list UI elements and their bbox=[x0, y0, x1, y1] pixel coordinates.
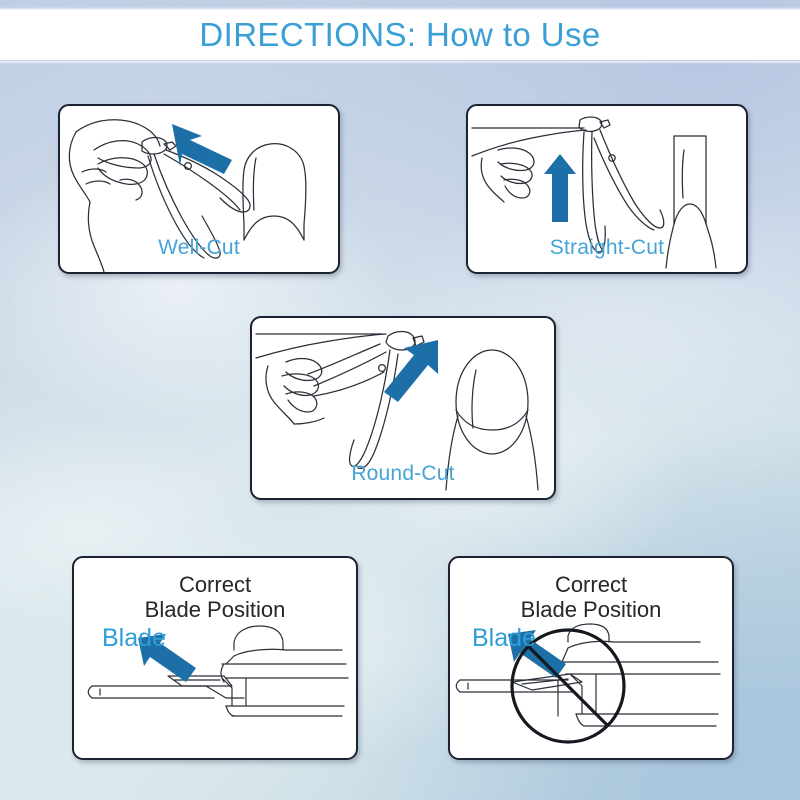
arrow-up-right-icon bbox=[384, 340, 438, 402]
caption-round-cut: Round-Cut bbox=[252, 462, 554, 486]
panel-round-cut: Round-Cut bbox=[250, 316, 556, 500]
panel-straight-cut: Straight-Cut bbox=[466, 104, 748, 274]
panel-well-cut: Well-Cut bbox=[58, 104, 340, 274]
panel-incorrect-blade-position: Correct Blade Position Blade bbox=[448, 556, 734, 760]
caption-well-cut: Well-Cut bbox=[60, 236, 338, 260]
page-title: DIRECTIONS: How to Use bbox=[199, 16, 600, 54]
blade-heading-incorrect: Correct Blade Position bbox=[450, 572, 732, 623]
blade-heading-correct: Correct Blade Position bbox=[74, 572, 356, 623]
arrow-up-icon bbox=[544, 154, 576, 222]
instruction-sheet: DIRECTIONS: How to Use bbox=[0, 0, 800, 800]
blade-heading-line2: Blade Position bbox=[521, 597, 662, 622]
blade-label-correct: Blade bbox=[102, 624, 166, 653]
header-band: DIRECTIONS: How to Use bbox=[0, 10, 800, 60]
panel-correct-blade-position: Correct Blade Position Blade bbox=[72, 556, 358, 760]
blade-heading-line2: Blade Position bbox=[145, 597, 286, 622]
blade-heading-line1: Correct bbox=[555, 572, 627, 597]
blade-heading-line1: Correct bbox=[179, 572, 251, 597]
caption-straight-cut: Straight-Cut bbox=[468, 236, 746, 260]
blade-label-incorrect: Blade bbox=[472, 624, 536, 653]
